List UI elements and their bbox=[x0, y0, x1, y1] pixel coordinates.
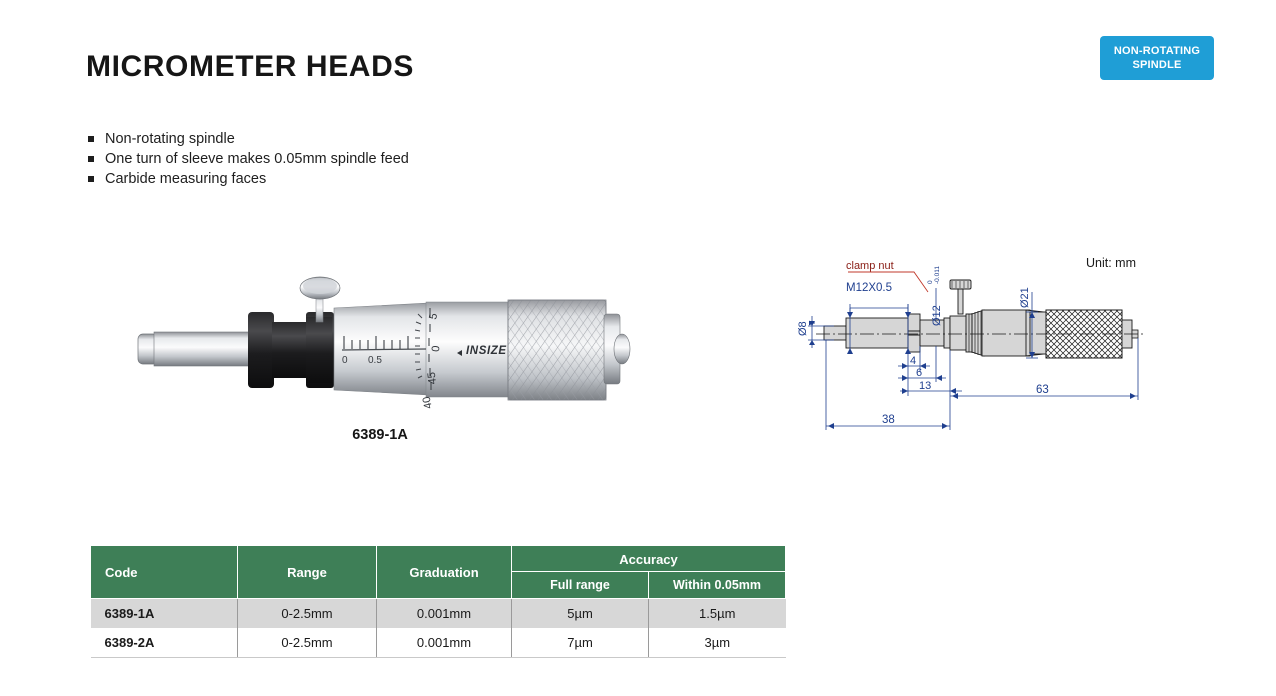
dia-8-label: Ø8 bbox=[797, 321, 809, 336]
cell-code: 6389-1A bbox=[91, 599, 238, 629]
cell-within: 1.5µm bbox=[649, 599, 786, 629]
thimble-scale-0: 0 bbox=[430, 345, 442, 352]
dim-38-label: 38 bbox=[882, 414, 895, 426]
dia-12-label: Ø12 bbox=[931, 305, 943, 326]
dia-12-tolerance-lower: -0.011 bbox=[934, 266, 941, 284]
product-photo-caption: 6389-1A bbox=[300, 427, 460, 443]
cell-graduation: 0.001mm bbox=[377, 628, 512, 658]
table-row[interactable]: 6389-1A 0-2.5mm 0.001mm 5µm 1.5µm bbox=[91, 599, 786, 629]
specification-table: Code Range Graduation Accuracy Full rang… bbox=[90, 545, 786, 658]
sleeve-scale-half: 0.5 bbox=[368, 355, 382, 366]
dimension-drawing: clamp nut M12X0.5 Ø8 Ø12 0 -0.011 Ø21 4 … bbox=[790, 248, 1170, 448]
thread-label: M12X0.5 bbox=[846, 282, 892, 294]
cell-within: 3µm bbox=[649, 628, 786, 658]
dim-6-label: 6 bbox=[916, 367, 922, 379]
table-header-row-1: Code Range Graduation Accuracy bbox=[91, 546, 786, 572]
technical-drawing: clamp nut M12X0.5 Ø8 Ø12 0 -0.011 Ø21 4 … bbox=[790, 248, 1170, 448]
micrometer-head-illustration: 0 0.5 5 0 45 40 INSIZE bbox=[130, 262, 650, 422]
cell-graduation: 0.001mm bbox=[377, 599, 512, 629]
unit-label: Unit: mm bbox=[1086, 256, 1136, 270]
cell-full-range: 5µm bbox=[512, 599, 649, 629]
column-header-range: Range bbox=[238, 546, 377, 599]
column-header-code: Code bbox=[91, 546, 238, 599]
cell-range: 0-2.5mm bbox=[238, 628, 377, 658]
column-header-within: Within 0.05mm bbox=[649, 572, 786, 599]
thimble-scale-40: 40 bbox=[421, 395, 435, 409]
badge-line-1: NON-ROTATING bbox=[1114, 44, 1200, 58]
page-title: MICROMETER HEADS bbox=[86, 50, 414, 84]
svg-text:INSIZE: INSIZE bbox=[466, 345, 507, 357]
feature-list: Non-rotating spindle One turn of sleeve … bbox=[88, 129, 409, 189]
dim-13-label: 13 bbox=[919, 380, 931, 392]
cell-range: 0-2.5mm bbox=[238, 599, 377, 629]
dim-4-label: 4 bbox=[910, 355, 916, 367]
dia-21-label: Ø21 bbox=[1019, 287, 1031, 308]
badge-line-2: SPINDLE bbox=[1132, 58, 1181, 72]
column-header-accuracy: Accuracy bbox=[512, 546, 786, 572]
sleeve-scale-zero: 0 bbox=[342, 355, 348, 366]
cell-code: 6389-2A bbox=[91, 628, 238, 658]
clamp-nut-label: clamp nut bbox=[846, 260, 894, 272]
feature-item: One turn of sleeve makes 0.05mm spindle … bbox=[88, 149, 409, 169]
dia-12-tolerance-upper: 0 bbox=[927, 280, 934, 284]
feature-item: Non-rotating spindle bbox=[88, 129, 409, 149]
product-photo: 0 0.5 5 0 45 40 INSIZE bbox=[130, 262, 650, 422]
non-rotating-spindle-badge: NON-ROTATING SPINDLE bbox=[1100, 36, 1214, 80]
cell-full-range: 7µm bbox=[512, 628, 649, 658]
dim-63-label: 63 bbox=[1036, 384, 1049, 396]
table-row[interactable]: 6389-2A 0-2.5mm 0.001mm 7µm 3µm bbox=[91, 628, 786, 658]
column-header-full-range: Full range bbox=[512, 572, 649, 599]
feature-item: Carbide measuring faces bbox=[88, 169, 409, 189]
column-header-graduation: Graduation bbox=[377, 546, 512, 599]
thimble-scale-45: 45 bbox=[426, 372, 439, 385]
